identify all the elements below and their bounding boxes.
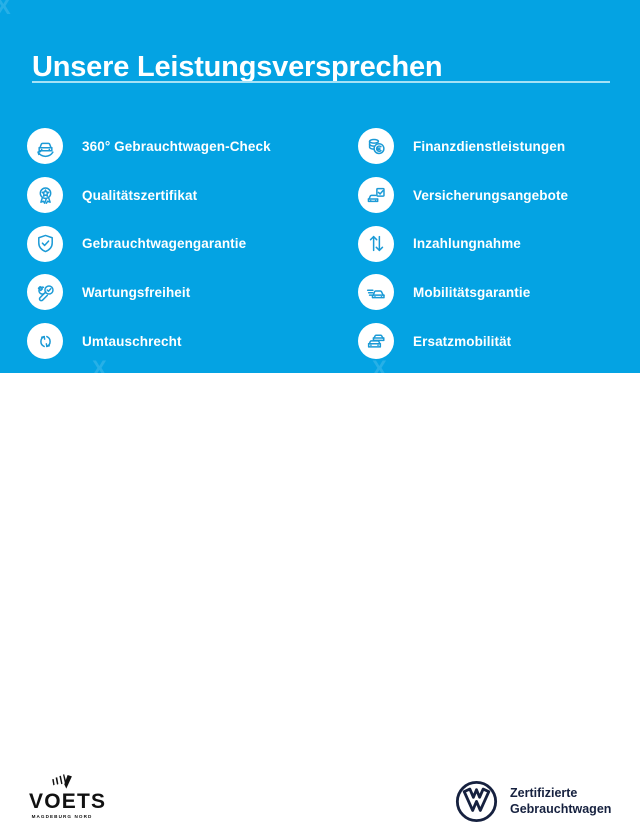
promise-label: Gebrauchtwagengarantie bbox=[82, 236, 246, 251]
promise-item-maintenance-free: Wartungsfreiheit bbox=[27, 268, 327, 317]
promise-item-360-check: 360° Gebrauchtwagen-Check bbox=[27, 122, 327, 171]
promise-column-right: Finanzdienstleistungen bbox=[358, 122, 640, 365]
vw-badge-text: Zertifizierte Gebrauchtwagen bbox=[510, 786, 611, 817]
two-cars-icon bbox=[358, 323, 394, 359]
shield-check-icon bbox=[27, 226, 63, 262]
promise-label: Versicherungsangebote bbox=[413, 188, 568, 203]
promise-item-mobility-guarantee: Mobilitätsgarantie bbox=[358, 268, 640, 317]
promise-panel: X X X Unsere Leistungsversprechen bbox=[0, 0, 640, 373]
coins-euro-icon bbox=[358, 128, 394, 164]
voets-wordmark: VOETS bbox=[29, 791, 95, 813]
car-document-check-icon bbox=[358, 177, 394, 213]
dealer-logo: VOETS MAGDEBURG NORD bbox=[29, 773, 95, 819]
promise-item-quality-certificate: Qualitätszertifikat bbox=[27, 171, 327, 220]
voets-crown-icon bbox=[29, 773, 95, 790]
promise-label: 360° Gebrauchtwagen-Check bbox=[82, 139, 271, 154]
footer: VOETS MAGDEBURG NORD Zertifizierte Gebra… bbox=[0, 373, 640, 480]
vw-certified-badge: Zertifizierte Gebrauchtwagen bbox=[455, 780, 611, 823]
voets-location: MAGDEBURG NORD bbox=[29, 814, 95, 819]
car-360-check-icon bbox=[27, 128, 63, 164]
promise-label: Qualitätszertifikat bbox=[82, 188, 197, 203]
wrench-check-icon bbox=[27, 274, 63, 310]
promise-label: Umtauschrecht bbox=[82, 334, 182, 349]
vw-roundel-icon bbox=[455, 780, 498, 823]
promise-item-used-car-warranty: Gebrauchtwagengarantie bbox=[27, 219, 327, 268]
promise-label: Ersatzmobilität bbox=[413, 334, 511, 349]
title-divider bbox=[32, 81, 610, 83]
promise-label: Inzahlungnahme bbox=[413, 236, 521, 251]
exchange-arrows-icon bbox=[27, 323, 63, 359]
promise-item-insurance-offers: Versicherungsangebote bbox=[358, 171, 640, 220]
promise-label: Mobilitätsgarantie bbox=[413, 285, 530, 300]
promise-item-trade-in: Inzahlungnahme bbox=[358, 219, 640, 268]
promise-label: Wartungsfreiheit bbox=[82, 285, 190, 300]
watermark: X bbox=[0, 0, 12, 20]
promise-graphic: X X X Unsere Leistungsversprechen bbox=[0, 0, 640, 480]
car-speed-icon bbox=[358, 274, 394, 310]
up-down-arrows-icon bbox=[358, 226, 394, 262]
promise-item-replacement-mobility: Ersatzmobilität bbox=[358, 317, 640, 366]
quality-seal-icon bbox=[27, 177, 63, 213]
promise-item-exchange-right: Umtauschrecht bbox=[27, 317, 327, 366]
promise-item-financial-services: Finanzdienstleistungen bbox=[358, 122, 640, 171]
vw-badge-line2: Gebrauchtwagen bbox=[510, 802, 611, 816]
promise-label: Finanzdienstleistungen bbox=[413, 139, 565, 154]
promise-column-left: 360° Gebrauchtwagen-Check Qualitätszerti… bbox=[27, 122, 327, 365]
vw-badge-line1: Zertifizierte bbox=[510, 786, 577, 800]
